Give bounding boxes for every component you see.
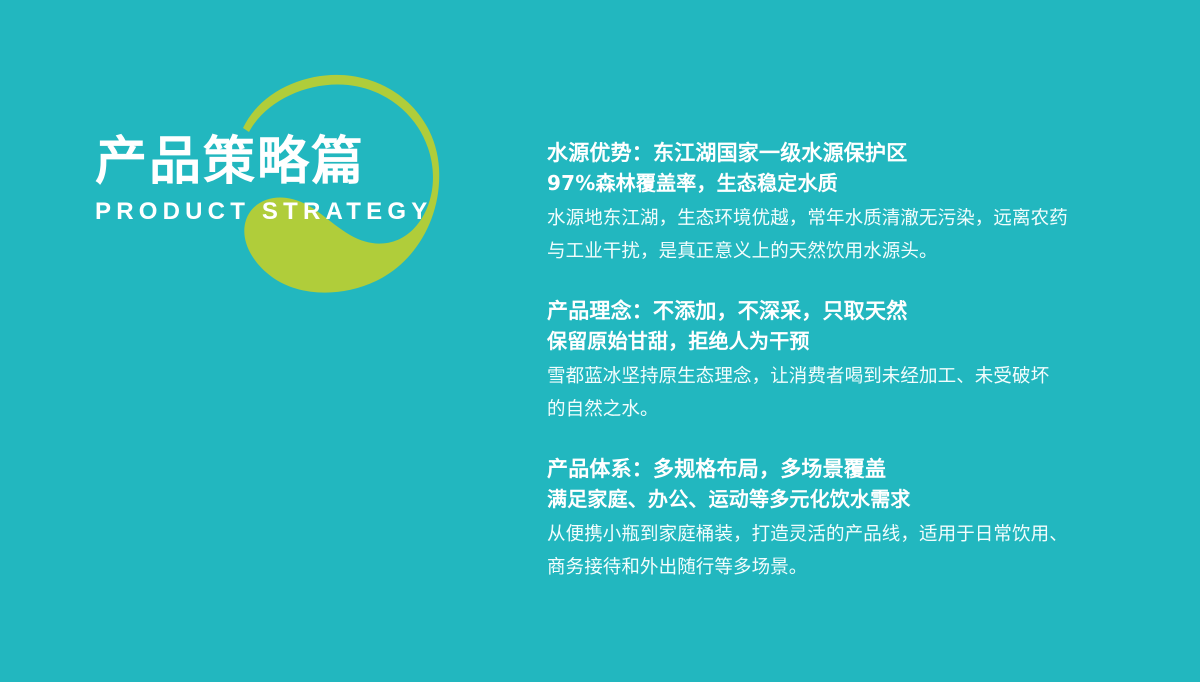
title-lockup: 产品策略篇 PRODUCT STRATEGY <box>95 132 435 226</box>
content-block-product-philosophy: 产品理念：不添加，不深采，只取天然 保留原始甘甜，拒绝人为干预 雪都蓝冰坚持原生… <box>547 296 1137 426</box>
content-column: 水源优势：东江湖国家一级水源保护区 97%森林覆盖率，生态稳定水质 水源地东江湖… <box>547 138 1137 584</box>
page-title-en: PRODUCT STRATEGY <box>95 198 435 226</box>
body-line: 水源地东江湖，生态环境优越，常年水质清澈无污染，远离农药 <box>547 202 1137 235</box>
slide-canvas: 产品策略篇 PRODUCT STRATEGY 水源优势：东江湖国家一级水源保护区… <box>0 0 1200 682</box>
brand-mark: 产品策略篇 PRODUCT STRATEGY <box>0 0 520 360</box>
body-line: 的自然之水。 <box>547 393 1137 426</box>
body-line: 雪都蓝冰坚持原生态理念，让消费者喝到未经加工、未受破坏 <box>547 360 1137 393</box>
block-subheading: 满足家庭、办公、运动等多元化饮水需求 <box>547 484 1137 514</box>
block-subheading: 保留原始甘甜，拒绝人为干预 <box>547 326 1137 356</box>
body-line: 商务接待和外出随行等多场景。 <box>547 551 1137 584</box>
page-title-cn: 产品策略篇 <box>95 132 435 192</box>
block-body: 从便携小瓶到家庭桶装，打造灵活的产品线，适用于日常饮用、 商务接待和外出随行等多… <box>547 518 1137 584</box>
block-subheading: 97%森林覆盖率，生态稳定水质 <box>547 168 1137 198</box>
body-line: 从便携小瓶到家庭桶装，打造灵活的产品线，适用于日常饮用、 <box>547 518 1137 551</box>
content-block-product-system: 产品体系：多规格布局，多场景覆盖 满足家庭、办公、运动等多元化饮水需求 从便携小… <box>547 454 1137 584</box>
body-line: 与工业干扰，是真正意义上的天然饮用水源头。 <box>547 235 1137 268</box>
block-heading: 水源优势：东江湖国家一级水源保护区 <box>547 138 1137 168</box>
block-heading: 产品理念：不添加，不深采，只取天然 <box>547 296 1137 326</box>
block-body: 雪都蓝冰坚持原生态理念，让消费者喝到未经加工、未受破坏 的自然之水。 <box>547 360 1137 426</box>
block-heading: 产品体系：多规格布局，多场景覆盖 <box>547 454 1137 484</box>
block-body: 水源地东江湖，生态环境优越，常年水质清澈无污染，远离农药 与工业干扰，是真正意义… <box>547 202 1137 268</box>
content-block-water-source: 水源优势：东江湖国家一级水源保护区 97%森林覆盖率，生态稳定水质 水源地东江湖… <box>547 138 1137 268</box>
